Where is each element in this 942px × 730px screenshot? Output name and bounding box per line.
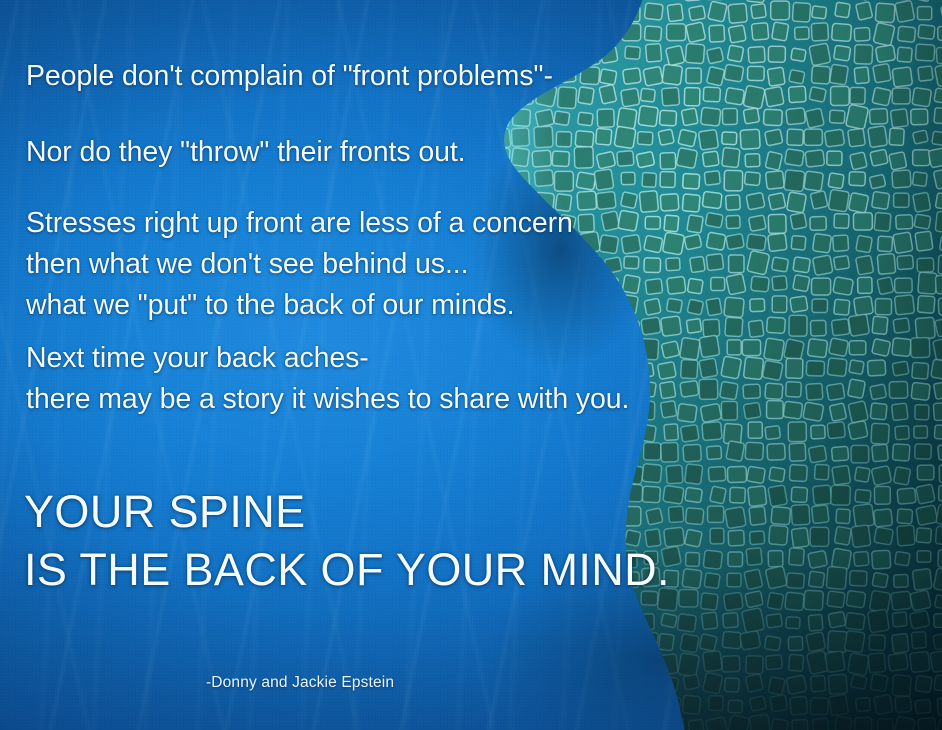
paragraph-4: Next time your back aches- there may be … <box>26 338 629 420</box>
attribution-credit: -Donny and Jackie Epstein <box>206 674 394 692</box>
poster-image: People don't complain of "front problems… <box>0 0 942 730</box>
paragraph-3: Stresses right up front are less of a co… <box>26 203 573 326</box>
headline: YOUR SPINE IS THE BACK OF YOUR MIND. <box>24 483 670 599</box>
paragraph-2: Nor do they "throw" their fronts out. <box>26 132 465 173</box>
paragraph-1: People don't complain of "front problems… <box>26 56 553 97</box>
text-overlay: People don't complain of "front problems… <box>0 0 942 730</box>
